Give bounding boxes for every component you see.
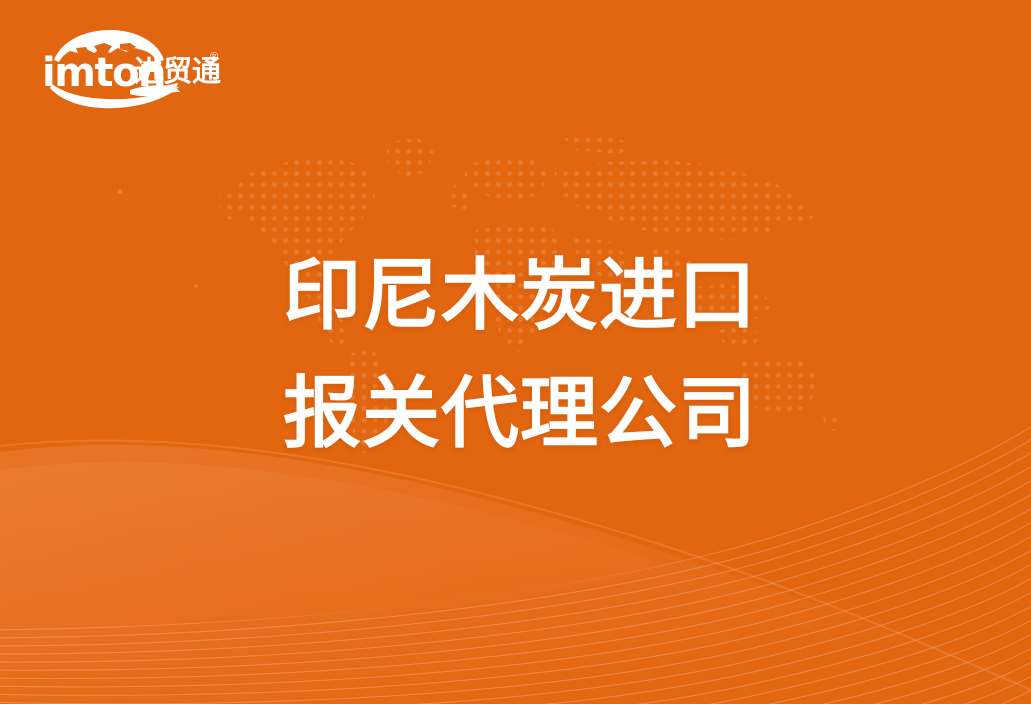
- registered-trademark-icon: ®: [210, 52, 218, 63]
- brand-logo[interactable]: imton 进贸通 ®: [38, 26, 228, 110]
- wave-curve-secondary: [0, 462, 1031, 704]
- logo-chinese-name: 进贸通: [134, 58, 221, 87]
- page-title-line-2: 报关代理公司: [283, 354, 883, 472]
- page-title: 印尼木炭进口 报关代理公司: [283, 236, 883, 472]
- poster-canvas: imton 进贸通 ® 印尼木炭进口 报关代理公司: [0, 0, 1031, 704]
- page-title-line-1: 印尼木炭进口: [283, 236, 883, 354]
